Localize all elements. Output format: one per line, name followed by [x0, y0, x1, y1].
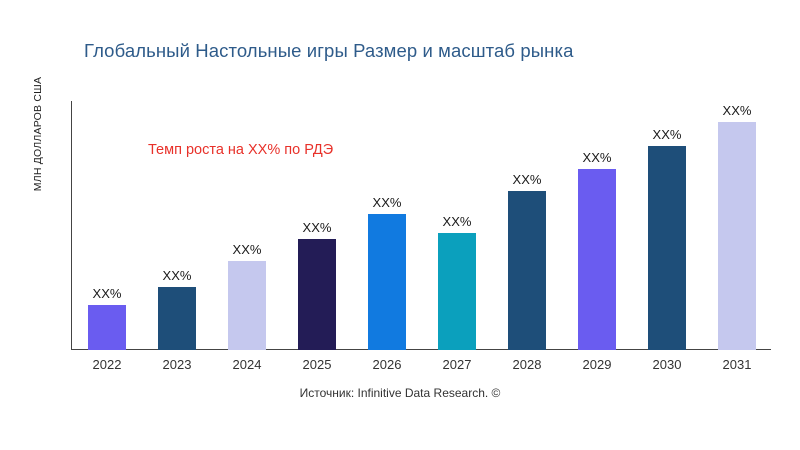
- bar[interactable]: [578, 169, 616, 350]
- bar-value-label: XX%: [303, 220, 332, 235]
- x-tick-label: 2027: [422, 357, 492, 372]
- bar[interactable]: [508, 191, 546, 350]
- x-tick-label: 2023: [142, 357, 212, 372]
- chart-title: Глобальный Настольные игры Размер и масш…: [84, 40, 573, 62]
- bar-group: XX%: [282, 101, 352, 350]
- x-tick-label: 2028: [492, 357, 562, 372]
- bar-group: XX%: [72, 101, 142, 350]
- x-tick-label: 2024: [212, 357, 282, 372]
- bar-value-label: XX%: [373, 195, 402, 210]
- bar-value-label: XX%: [233, 242, 262, 257]
- bar-value-label: XX%: [653, 127, 682, 142]
- bar[interactable]: [648, 146, 686, 350]
- bar[interactable]: [718, 122, 756, 350]
- source-note: Источник: Infinitive Data Research. ©: [0, 386, 800, 400]
- bar[interactable]: [88, 305, 126, 350]
- bar-group: XX%: [352, 101, 422, 350]
- plot-area: XX%XX%XX%XX%XX%XX%XX%XX%XX%XX%: [72, 101, 772, 350]
- x-tick-label: 2026: [352, 357, 422, 372]
- bar-group: XX%: [212, 101, 282, 350]
- bar[interactable]: [368, 214, 406, 350]
- bar-value-label: XX%: [93, 286, 122, 301]
- bar[interactable]: [298, 239, 336, 350]
- bar-value-label: XX%: [723, 103, 752, 118]
- x-tick-label: 2031: [702, 357, 772, 372]
- growth-rate-annotation: Темп роста на XX% по РДЭ: [148, 142, 333, 158]
- x-tick-label: 2029: [562, 357, 632, 372]
- x-tick-label: 2022: [72, 357, 142, 372]
- bar-value-label: XX%: [583, 150, 612, 165]
- bar-group: XX%: [702, 101, 772, 350]
- x-tick-label: 2025: [282, 357, 352, 372]
- bar[interactable]: [438, 233, 476, 350]
- bar-value-label: XX%: [513, 172, 542, 187]
- chart-container: Глобальный Настольные игры Размер и масш…: [0, 0, 800, 450]
- x-tick-label: 2030: [632, 357, 702, 372]
- bar-group: XX%: [142, 101, 212, 350]
- bar-group: XX%: [632, 101, 702, 350]
- bar[interactable]: [158, 287, 196, 350]
- bar[interactable]: [228, 261, 266, 350]
- bar-group: XX%: [422, 101, 492, 350]
- bar-value-label: XX%: [443, 214, 472, 229]
- bar-value-label: XX%: [163, 268, 192, 283]
- bar-group: XX%: [492, 101, 562, 350]
- y-axis-label: МЛН ДОЛЛАРОВ США: [32, 34, 44, 234]
- bar-group: XX%: [562, 101, 632, 350]
